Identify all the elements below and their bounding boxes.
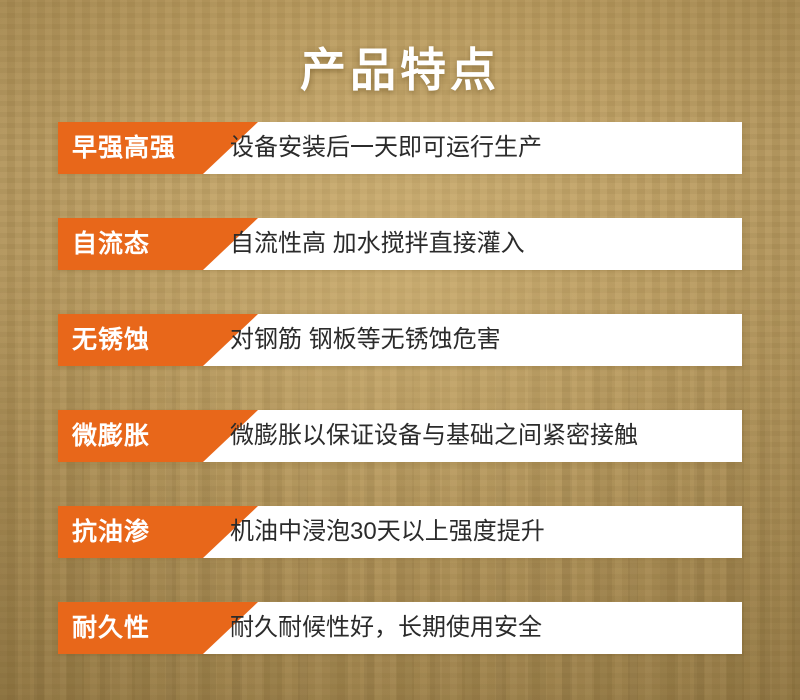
feature-description: 微膨胀以保证设备与基础之间紧密接触 xyxy=(230,410,638,462)
feature-tag-label: 早强高强 xyxy=(72,122,176,174)
list-item: 自流态 自流性高 加水搅拌直接灌入 xyxy=(58,218,742,270)
page-title: 产品特点 xyxy=(0,34,800,100)
list-item: 微膨胀 微膨胀以保证设备与基础之间紧密接触 xyxy=(58,410,742,462)
feature-tag-label: 自流态 xyxy=(72,218,150,270)
list-item: 无锈蚀 对钢筋 钢板等无锈蚀危害 xyxy=(58,314,742,366)
feature-description: 耐久耐候性好，长期使用安全 xyxy=(230,602,542,654)
feature-tag-label: 微膨胀 xyxy=(72,410,150,462)
list-item: 耐久性 耐久耐候性好，长期使用安全 xyxy=(58,602,742,654)
feature-description: 设备安装后一天即可运行生产 xyxy=(230,122,542,174)
feature-description: 自流性高 加水搅拌直接灌入 xyxy=(230,218,525,270)
feature-tag-label: 抗油渗 xyxy=(72,506,150,558)
feature-tag-label: 无锈蚀 xyxy=(72,314,150,366)
list-item: 早强高强 设备安装后一天即可运行生产 xyxy=(58,122,742,174)
feature-tag-label: 耐久性 xyxy=(72,602,150,654)
feature-description: 机油中浸泡30天以上强度提升 xyxy=(230,506,545,558)
product-features-poster: 产品特点 早强高强 设备安装后一天即可运行生产 自流态 自流性高 加水搅拌直接灌… xyxy=(0,0,800,700)
list-item: 抗油渗 机油中浸泡30天以上强度提升 xyxy=(58,506,742,558)
feature-description: 对钢筋 钢板等无锈蚀危害 xyxy=(230,314,501,366)
feature-list: 早强高强 设备安装后一天即可运行生产 自流态 自流性高 加水搅拌直接灌入 无锈蚀… xyxy=(58,122,742,654)
